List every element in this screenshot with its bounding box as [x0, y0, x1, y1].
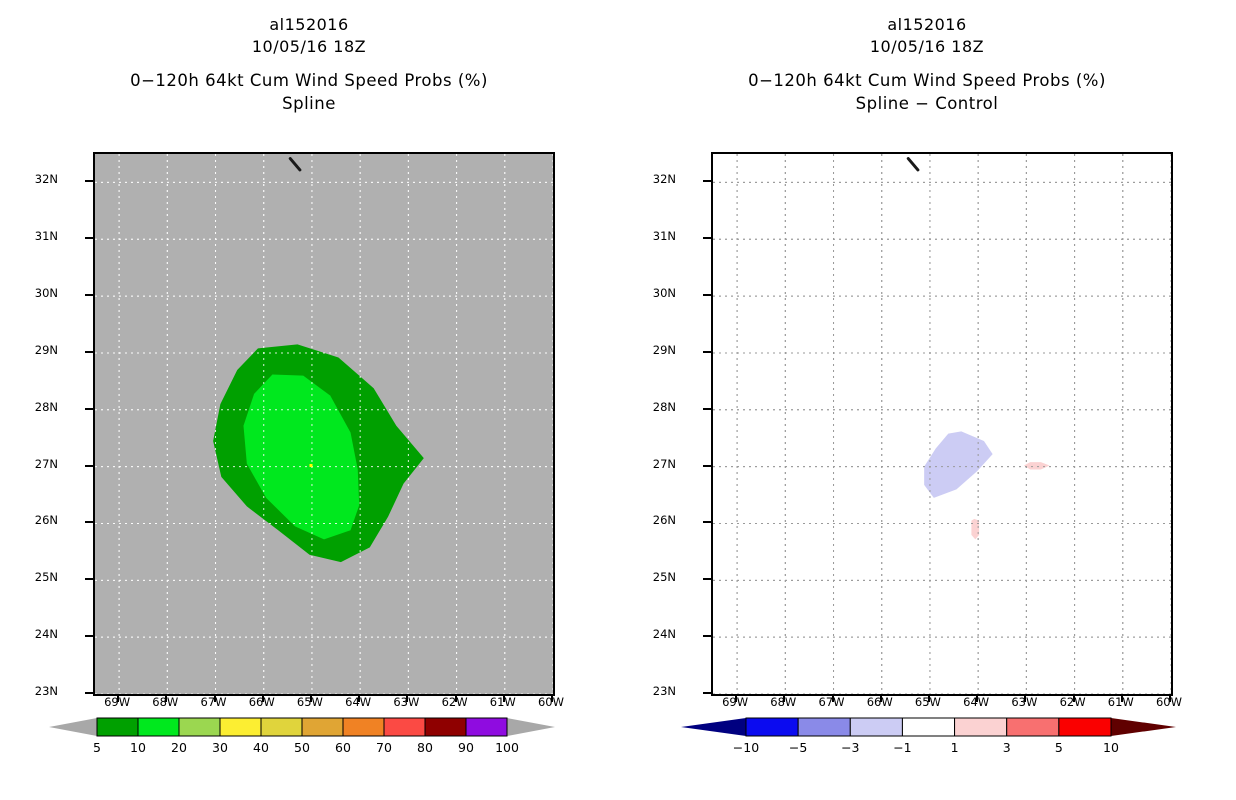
- panel-titles-left: al152016 10/05/16 18Z 0−120h 64kt Cum Wi…: [0, 12, 618, 115]
- colorbar-tick-label: 70: [364, 741, 404, 754]
- x-axis-tick: [735, 694, 737, 702]
- y-axis-tick: [85, 351, 93, 353]
- colorbar-segment[interactable]: [955, 718, 1007, 736]
- colorbar-segment[interactable]: [850, 718, 902, 736]
- y-axis-tick-label: 32N: [10, 174, 58, 186]
- colorbar-difference[interactable]: −10−5−3−113510: [618, 712, 1236, 772]
- colorbar-spline[interactable]: 5102030405060708090100: [0, 712, 618, 772]
- x-axis-tick: [551, 694, 553, 702]
- colorbar-segment[interactable]: [902, 718, 954, 736]
- colorbar-segment[interactable]: [1007, 718, 1059, 736]
- x-axis-tick: [165, 694, 167, 702]
- colorbar-segment[interactable]: [466, 718, 507, 736]
- y-axis-tick-label: 29N: [10, 345, 58, 357]
- y-axis-tick: [703, 180, 711, 182]
- y-axis-tick-label: 30N: [628, 288, 676, 300]
- datetime-label: 10/05/16 18Z: [0, 36, 618, 58]
- colorbar-tick-label: −3: [830, 741, 870, 754]
- y-axis-tick: [85, 578, 93, 580]
- y-axis-tick-label: 28N: [10, 402, 58, 414]
- map-plot-area-spline[interactable]: [93, 152, 555, 696]
- colorbar-tick-label: −10: [726, 741, 766, 754]
- y-axis-tick-label: 32N: [628, 174, 676, 186]
- map-plot-area-difference[interactable]: [711, 152, 1173, 696]
- colorbar-tick-label: 100: [487, 741, 527, 754]
- x-axis-tick: [455, 694, 457, 702]
- colorbar-segment[interactable]: [179, 718, 220, 736]
- product-title-label: 0−120h 64kt Cum Wind Speed Probs (%): [618, 70, 1236, 92]
- y-axis-tick: [85, 635, 93, 637]
- y-axis-tick-label: 29N: [628, 345, 676, 357]
- colorbar-tick-label: −5: [778, 741, 818, 754]
- y-axis-tick: [703, 578, 711, 580]
- y-axis-tick-label: 25N: [628, 572, 676, 584]
- panel-spline: al152016 10/05/16 18Z 0−120h 64kt Cum Wi…: [0, 0, 618, 800]
- coastline-fragment-difference: [908, 159, 918, 170]
- y-axis-tick-label: 31N: [10, 231, 58, 243]
- y-axis-tick: [85, 521, 93, 523]
- y-axis-tick-label: 26N: [628, 515, 676, 527]
- colorbar-segment[interactable]: [220, 718, 261, 736]
- x-axis-tick: [503, 694, 505, 702]
- y-axis-tick-label: 28N: [628, 402, 676, 414]
- panel-titles-right: al152016 10/05/16 18Z 0−120h 64kt Cum Wi…: [618, 12, 1236, 115]
- x-axis-tick: [928, 694, 930, 702]
- y-axis-tick-label: 24N: [628, 629, 676, 641]
- colorbar-segment[interactable]: [302, 718, 343, 736]
- colorbar-tick-label: 10: [1091, 741, 1131, 754]
- colorbar-tick-label: −1: [882, 741, 922, 754]
- map-contours-difference: [713, 154, 1171, 694]
- colorbar-tick-label: 1: [935, 741, 975, 754]
- colorbar-underflow-arrow: [681, 718, 746, 736]
- map-contours-spline: [95, 154, 553, 694]
- y-axis-tick: [703, 635, 711, 637]
- y-axis-tick: [85, 294, 93, 296]
- gridlines-difference: [713, 154, 1171, 694]
- y-axis-tick-label: 27N: [628, 459, 676, 471]
- y-axis-tick-label: 25N: [10, 572, 58, 584]
- colorbar-tick-label: 60: [323, 741, 363, 754]
- colorbar-tick-label: 30: [200, 741, 240, 754]
- x-axis-tick: [406, 694, 408, 702]
- x-axis-tick: [1073, 694, 1075, 702]
- colorbar-underflow-arrow: [49, 718, 97, 736]
- contour-band: [1024, 462, 1050, 469]
- x-axis-tick: [976, 694, 978, 702]
- y-axis-tick: [85, 237, 93, 239]
- y-axis-tick-label: 27N: [10, 459, 58, 471]
- y-axis-tick-label: 31N: [628, 231, 676, 243]
- x-axis-tick: [1121, 694, 1123, 702]
- colorbar-segment[interactable]: [1059, 718, 1111, 736]
- colorbar-segment[interactable]: [261, 718, 302, 736]
- colorbar-segment[interactable]: [746, 718, 798, 736]
- x-axis-tick: [358, 694, 360, 702]
- colorbar-tick-label: 50: [282, 741, 322, 754]
- panel-subtitle-label: Spline − Control: [618, 93, 1236, 115]
- y-axis-tick-label: 30N: [10, 288, 58, 300]
- center-marker-spline: [309, 464, 312, 467]
- colorbar-overflow-arrow: [1111, 718, 1176, 736]
- colorbar-overflow-arrow: [507, 718, 555, 736]
- colorbar-segment[interactable]: [798, 718, 850, 736]
- panel-spline-minus-control: al152016 10/05/16 18Z 0−120h 64kt Cum Wi…: [618, 0, 1236, 800]
- x-axis-tick: [832, 694, 834, 702]
- colorbar-tick-label: 10: [118, 741, 158, 754]
- colorbar-segment[interactable]: [138, 718, 179, 736]
- colorbar-tick-label: 90: [446, 741, 486, 754]
- colorbar-segment[interactable]: [97, 718, 138, 736]
- colorbar-segment[interactable]: [384, 718, 425, 736]
- x-axis-tick: [262, 694, 264, 702]
- y-axis-tick-label: 26N: [10, 515, 58, 527]
- x-axis-tick: [310, 694, 312, 702]
- y-axis-tick: [85, 408, 93, 410]
- y-axis-tick: [703, 294, 711, 296]
- x-axis-tick: [214, 694, 216, 702]
- panel-subtitle-label: Spline: [0, 93, 618, 115]
- colorbar-tick-label: 5: [1039, 741, 1079, 754]
- y-axis-tick: [703, 351, 711, 353]
- x-axis-tick: [1169, 694, 1171, 702]
- datetime-label: 10/05/16 18Z: [618, 36, 1236, 58]
- y-axis-tick: [703, 408, 711, 410]
- y-axis-tick: [85, 465, 93, 467]
- colorbar-segment[interactable]: [425, 718, 466, 736]
- x-axis-tick: [117, 694, 119, 702]
- y-axis-tick: [703, 692, 711, 694]
- storm-id-label: al152016: [618, 14, 1236, 36]
- colorbar-tick-label: 3: [987, 741, 1027, 754]
- x-axis-tick: [1024, 694, 1026, 702]
- storm-id-label: al152016: [0, 14, 618, 36]
- y-axis-tick-label: 24N: [10, 629, 58, 641]
- contour-fills-spline: [95, 154, 553, 694]
- y-axis-tick: [85, 692, 93, 694]
- y-axis-tick: [85, 180, 93, 182]
- y-axis-tick: [703, 521, 711, 523]
- product-title-label: 0−120h 64kt Cum Wind Speed Probs (%): [0, 70, 618, 92]
- y-axis-tick: [703, 237, 711, 239]
- colorbar-segment[interactable]: [343, 718, 384, 736]
- storm-center-marker: [309, 464, 312, 467]
- y-axis-tick: [703, 465, 711, 467]
- coastline-fragment-spline: [290, 159, 300, 170]
- contour-fills-difference: [713, 154, 1171, 694]
- y-axis-tick-label: 23N: [10, 686, 58, 698]
- y-axis-tick-label: 23N: [628, 686, 676, 698]
- colorbar-tick-label: 5: [77, 741, 117, 754]
- colorbar-tick-label: 20: [159, 741, 199, 754]
- colorbar-tick-label: 80: [405, 741, 445, 754]
- colorbar-tick-label: 40: [241, 741, 281, 754]
- colorbar-swatches-difference: [618, 712, 1236, 746]
- x-axis-tick: [880, 694, 882, 702]
- contour-band: [924, 431, 992, 498]
- x-axis-tick: [783, 694, 785, 702]
